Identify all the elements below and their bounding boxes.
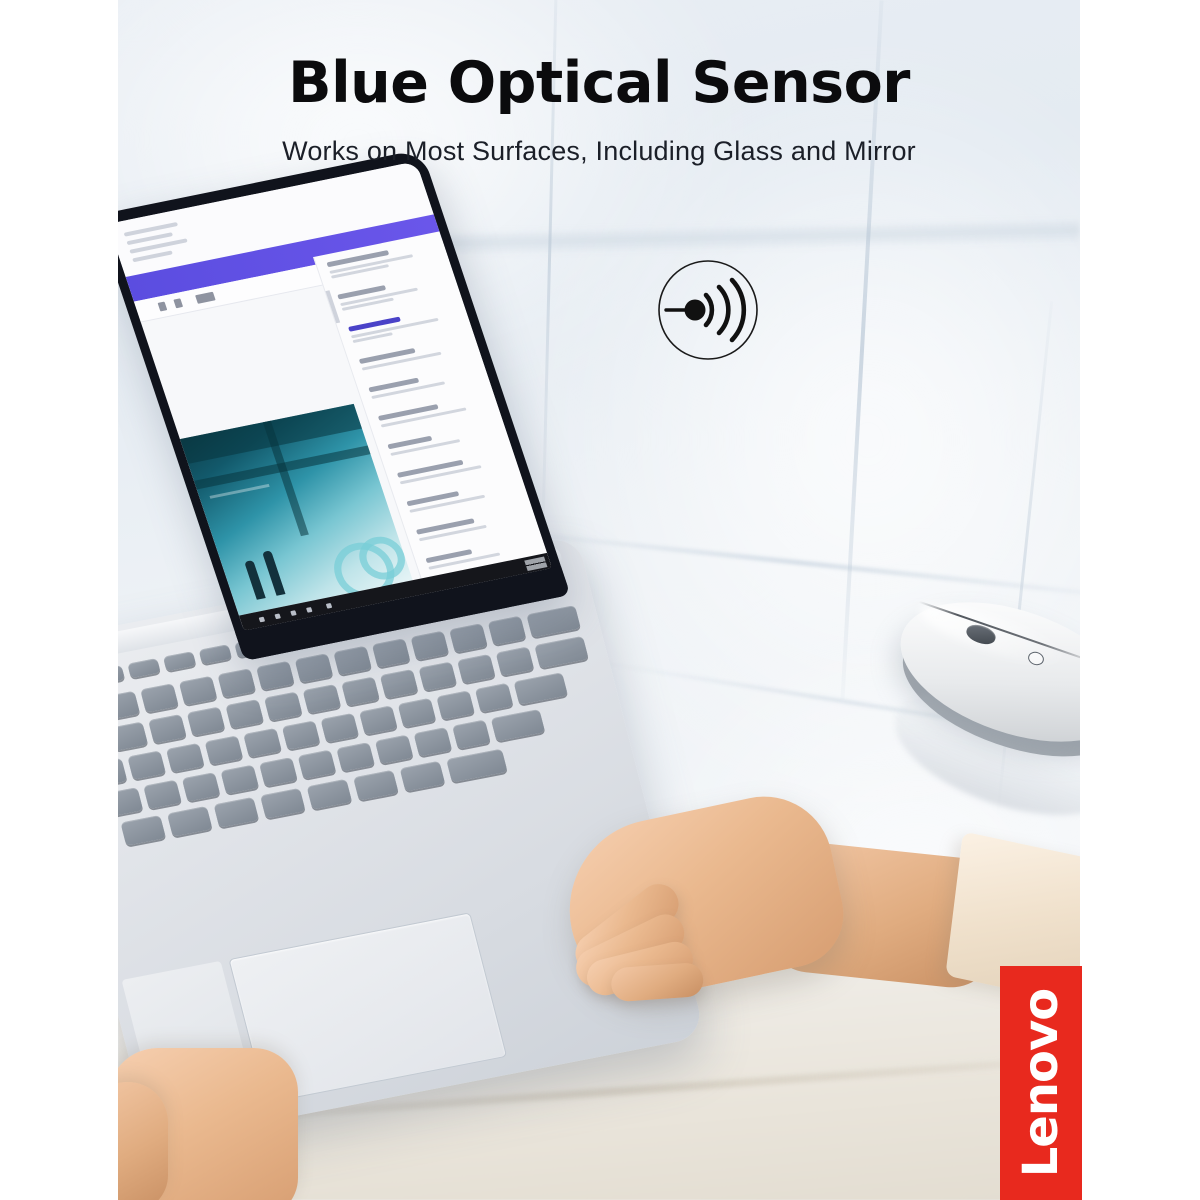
keyboard-key[interactable] [436, 690, 475, 719]
scene-photograph: Blue Optical Sensor Works on Most Surfac… [118, 0, 1080, 1200]
keyboard-key[interactable] [491, 709, 545, 742]
keyboard-key[interactable] [118, 787, 143, 816]
wireless-mouse[interactable] [888, 605, 1080, 805]
keyboard-key[interactable] [148, 714, 187, 743]
keyboard-key[interactable] [526, 605, 580, 638]
keyboard-key[interactable] [333, 646, 372, 675]
keyboard-key[interactable] [199, 644, 232, 664]
keyboard-key[interactable] [217, 668, 256, 697]
left-hand-thumb [118, 1082, 168, 1200]
keyboard-key[interactable] [372, 638, 411, 667]
keyboard-key[interactable] [243, 728, 282, 757]
finger-pinky [610, 962, 704, 1002]
keyboard-key[interactable] [298, 750, 337, 779]
keyboard-key[interactable] [182, 772, 221, 801]
keyboard-key[interactable] [320, 713, 359, 742]
keyboard-key[interactable] [359, 705, 398, 734]
keyboard-key[interactable] [118, 722, 148, 751]
keyboard-key[interactable] [446, 749, 507, 783]
keyboard-key[interactable] [259, 757, 298, 786]
page-title: Blue Optical Sensor [118, 54, 1080, 114]
wireless-signal-icon [657, 259, 759, 361]
keyboard-key[interactable] [260, 788, 306, 819]
laptop-lid [118, 149, 570, 661]
keyboard-key[interactable] [118, 665, 125, 685]
keyboard-key[interactable] [205, 735, 244, 764]
keyboard-key[interactable] [475, 683, 514, 712]
keyboard-key[interactable] [410, 631, 449, 660]
keyboard-key[interactable] [452, 720, 491, 749]
lenovo-logo-badge: Lenovo [1000, 966, 1082, 1200]
keyboard-key[interactable] [375, 735, 414, 764]
page-subtitle: Works on Most Surfaces, Including Glass … [118, 136, 1080, 167]
keyboard-key[interactable] [167, 806, 213, 837]
lenovo-wordmark: Lenovo [1017, 989, 1065, 1178]
list-item [368, 368, 471, 401]
list-item [406, 481, 509, 514]
keyboard-key[interactable] [225, 699, 264, 728]
keyboard-key[interactable] [513, 672, 567, 705]
keyboard-key[interactable] [353, 770, 399, 801]
right-hand [498, 790, 928, 1120]
list-item [416, 510, 519, 543]
keyboard-key[interactable] [143, 780, 182, 809]
keyboard-key[interactable] [163, 651, 196, 671]
keyboard-key[interactable] [380, 669, 419, 698]
keyboard-key[interactable] [457, 654, 496, 683]
headline-block: Blue Optical Sensor Works on Most Surfac… [118, 54, 1080, 167]
keyboard-key[interactable] [118, 758, 127, 787]
keyboard-key[interactable] [400, 761, 446, 792]
product-image-canvas: Blue Optical Sensor Works on Most Surfac… [0, 0, 1200, 1200]
left-hand [118, 1020, 398, 1200]
keyboard-key[interactable] [307, 779, 353, 810]
laptop-screen [118, 161, 552, 631]
list-item [337, 275, 442, 313]
keyboard-key[interactable] [118, 691, 140, 720]
keyboard-key[interactable] [282, 720, 321, 749]
list-item [387, 424, 490, 457]
keyboard-key[interactable] [534, 636, 588, 669]
keyboard-key[interactable] [220, 765, 259, 794]
list-item [348, 307, 453, 345]
keyboard-key[interactable] [213, 797, 259, 828]
keyboard-key[interactable] [120, 815, 166, 846]
keyboard-key[interactable] [398, 698, 437, 727]
keyboard-key[interactable] [418, 661, 457, 690]
keyboard-key[interactable] [449, 623, 488, 652]
keyboard-key[interactable] [303, 684, 342, 713]
list-item [359, 339, 462, 372]
keyboard-key[interactable] [127, 658, 160, 678]
keyboard-key[interactable] [187, 707, 226, 736]
keyboard-key[interactable] [256, 661, 295, 690]
keyboard-key[interactable] [336, 742, 375, 771]
keyboard-key[interactable] [488, 616, 527, 645]
keyboard-key[interactable] [295, 653, 334, 682]
keyboard-key[interactable] [127, 750, 166, 779]
keyboard-key[interactable] [179, 676, 218, 705]
list-item [397, 453, 500, 486]
keyboard-key[interactable] [341, 676, 380, 705]
keyboard-key[interactable] [264, 692, 303, 721]
keyboard-key[interactable] [496, 646, 535, 675]
keyboard-key[interactable] [140, 683, 179, 712]
list-item [378, 396, 481, 429]
keyboard-key[interactable] [166, 743, 205, 772]
keyboard-key[interactable] [413, 727, 452, 756]
